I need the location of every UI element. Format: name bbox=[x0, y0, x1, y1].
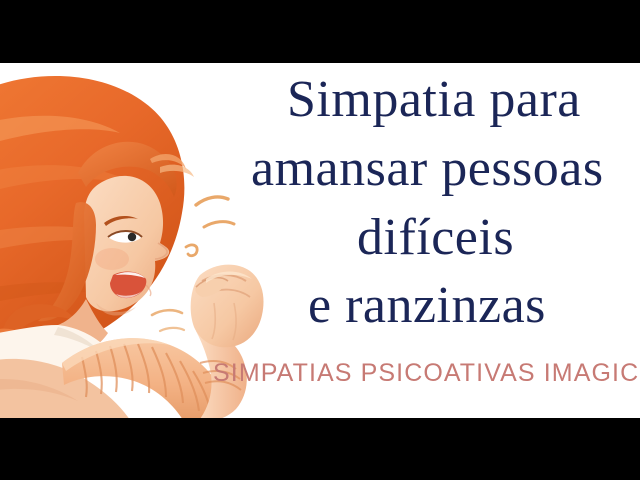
title-line-4: e ranzinzas bbox=[308, 280, 546, 332]
clenched-fist bbox=[191, 265, 264, 348]
video-thumbnail: Simpatia para amansar pessoas difíceis e… bbox=[0, 0, 640, 480]
eye-pupil bbox=[128, 233, 136, 241]
title-line-3: difíceis bbox=[357, 212, 514, 264]
brand-subtitle: SIMPATIAS PSICOATIVAS IMAGICK bbox=[213, 359, 640, 388]
flourish-2 bbox=[204, 222, 234, 227]
flourish-1 bbox=[196, 197, 228, 205]
cheek-blush bbox=[95, 248, 129, 270]
flourish-4 bbox=[152, 310, 182, 315]
letterbox-bar-bottom bbox=[0, 418, 640, 480]
title-line-2: amansar pessoas bbox=[251, 143, 604, 195]
thumbnail-canvas: Simpatia para amansar pessoas difíceis e… bbox=[0, 63, 640, 418]
flourish-3 bbox=[186, 245, 197, 256]
letterbox-bar-top bbox=[0, 0, 640, 63]
flourish-5 bbox=[160, 328, 184, 331]
title-line-1: Simpatia para bbox=[287, 74, 581, 126]
